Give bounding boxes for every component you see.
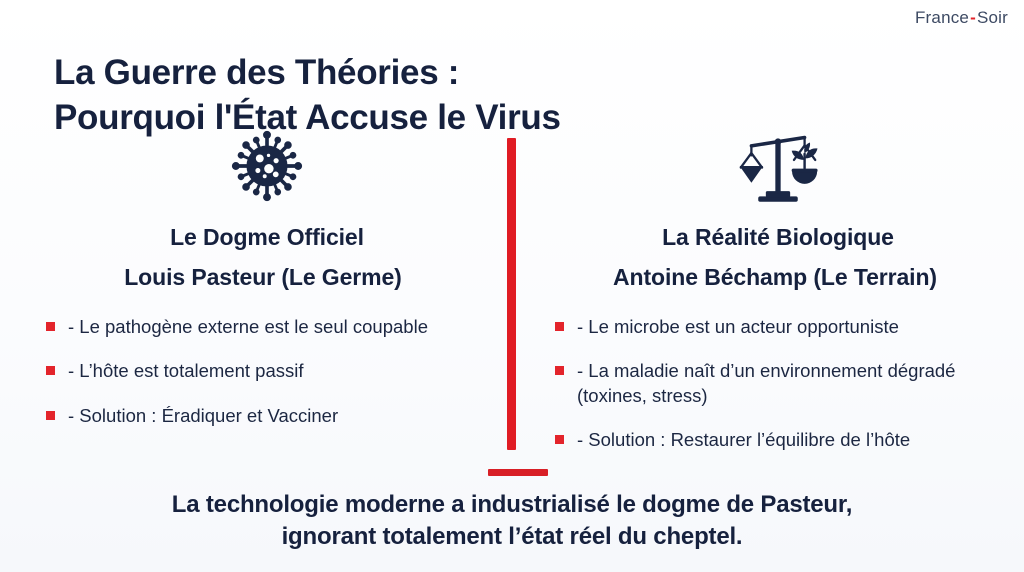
list-item-text: - Solution : Éradiquer et Vacciner: [68, 405, 338, 426]
column-realite-biologique: La Réalité Biologique Antoine Béchamp (L…: [535, 128, 1005, 458]
brand-prefix: France: [915, 8, 969, 27]
list-item: - Le pathogène externe est le seul coupa…: [46, 315, 488, 339]
square-bullet-icon: [46, 411, 55, 420]
list-item-text: - Le pathogène externe est le seul coupa…: [68, 316, 428, 337]
list-item-text: - La maladie naît d’un environnement dég…: [577, 360, 955, 405]
square-bullet-icon: [46, 322, 55, 331]
column-title-right: La Réalité Biologique: [535, 224, 1005, 251]
column-title-left: Le Dogme Officiel: [22, 224, 492, 251]
list-item-text: - Solution : Restaurer l’équilibre de l’…: [577, 429, 910, 450]
conclusion-line-2: ignorant totalement l’état réel du chept…: [62, 521, 962, 553]
virus-icon: [22, 128, 492, 206]
column-subtitle-right: Antoine Béchamp (Le Terrain): [535, 264, 1005, 291]
conclusion-text: La technologie moderne a industrialisé l…: [62, 489, 962, 552]
horizontal-accent-rule: [488, 469, 548, 476]
square-bullet-icon: [555, 366, 564, 375]
column-dogme-officiel: Le Dogme Officiel Louis Pasteur (Le Germ…: [22, 128, 492, 458]
list-item: - L’hôte est totalement passif: [46, 359, 488, 383]
conclusion-line-1: La technologie moderne a industrialisé l…: [62, 489, 962, 521]
square-bullet-icon: [555, 322, 564, 331]
column-subtitle-left: Louis Pasteur (Le Germe): [22, 264, 492, 291]
square-bullet-icon: [555, 435, 564, 444]
page-title: La Guerre des Théories : Pourquoi l'État…: [54, 51, 894, 140]
list-item: - Solution : Éradiquer et Vacciner: [46, 404, 488, 428]
list-item: - La maladie naît d’un environnement dég…: [555, 359, 997, 408]
brand-separator: -: [969, 8, 977, 27]
balance-scale-plant-icon: [535, 128, 1005, 206]
bullet-list-left: - Le pathogène externe est le seul coupa…: [46, 315, 492, 428]
list-item-text: - Le microbe est un acteur opportuniste: [577, 316, 899, 337]
brand-logo: France-Soir: [915, 8, 1008, 28]
page-title-line-1: La Guerre des Théories :: [54, 51, 894, 95]
comparison-columns: Le Dogme Officiel Louis Pasteur (Le Germ…: [0, 128, 1024, 458]
list-item: - Solution : Restaurer l’équilibre de l’…: [555, 428, 997, 452]
list-item-text: - L’hôte est totalement passif: [68, 360, 304, 381]
square-bullet-icon: [46, 366, 55, 375]
slide-root: France-Soir La Guerre des Théories : Pou…: [0, 0, 1024, 572]
brand-suffix: Soir: [977, 8, 1008, 27]
bullet-list-right: - Le microbe est un acteur opportuniste …: [555, 315, 1005, 453]
list-item: - Le microbe est un acteur opportuniste: [555, 315, 997, 339]
